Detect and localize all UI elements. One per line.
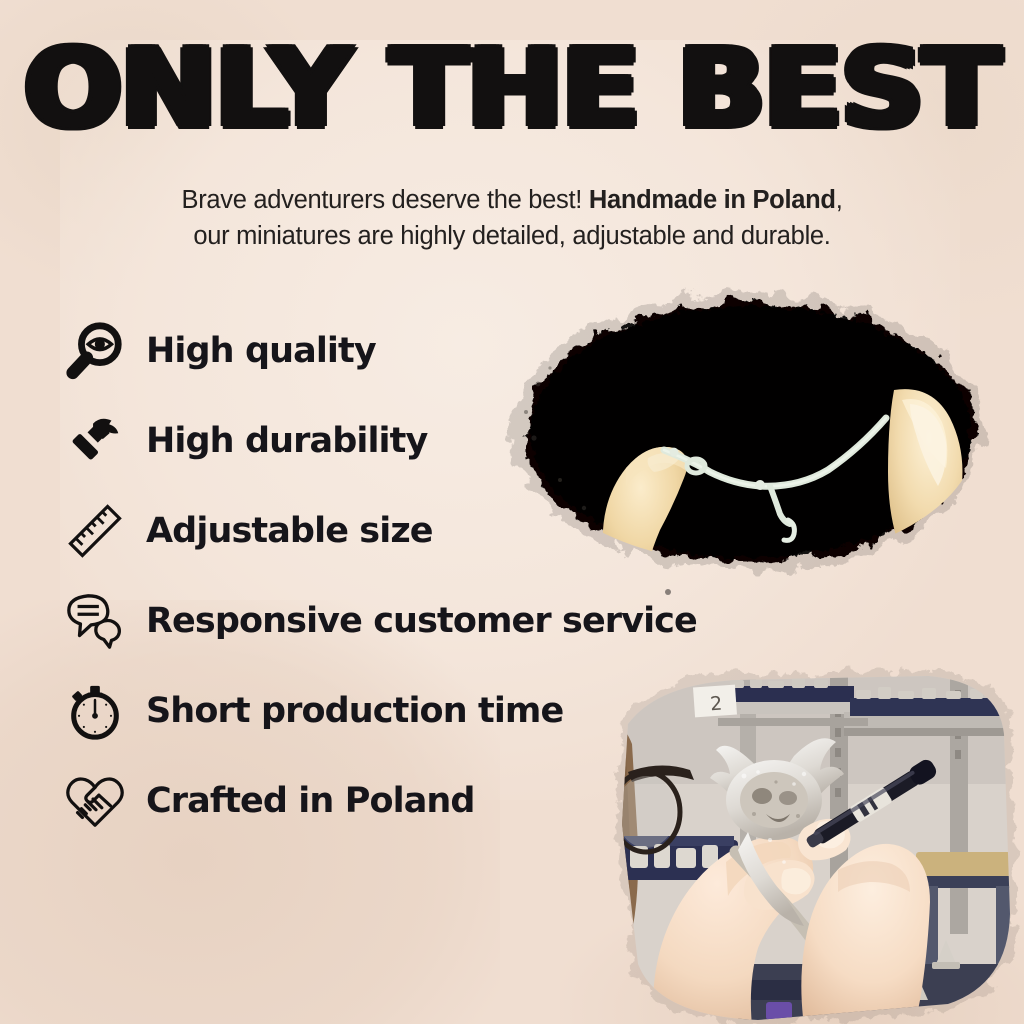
handshake-heart-icon <box>56 762 134 840</box>
subtitle-line1-tail: , <box>836 186 843 214</box>
photo-bendable-miniature-part <box>498 272 998 602</box>
promo-poster: ONLY THE BEST Brave adventurers deserve … <box>0 0 1024 1024</box>
feature-label: Crafted in Poland <box>146 781 475 821</box>
subtitle-text: Brave adventurers deserve the best! Hand… <box>92 182 932 254</box>
stopwatch-icon <box>56 672 134 750</box>
magnifier-eye-icon <box>56 312 134 390</box>
feature-label: Adjustable size <box>146 511 433 551</box>
speech-bubbles-icon <box>56 582 134 660</box>
photo-painting-workshop: 2 <box>598 664 1024 1024</box>
feature-label: Responsive customer service <box>146 601 697 641</box>
feature-label: High quality <box>146 331 376 371</box>
hammer-icon <box>56 402 134 480</box>
svg-text:2: 2 <box>709 693 723 716</box>
ruler-icon <box>56 492 134 570</box>
subtitle-line1-bold: Handmade in Poland <box>589 186 836 214</box>
headline-title: ONLY THE BEST <box>0 36 1024 144</box>
subtitle-line1-lead: Brave adventurers deserve the best! <box>182 186 589 214</box>
feature-label: High durability <box>146 421 427 461</box>
feature-label: Short production time <box>146 691 563 731</box>
subtitle-line2: our miniatures are highly detailed, adju… <box>193 222 830 250</box>
